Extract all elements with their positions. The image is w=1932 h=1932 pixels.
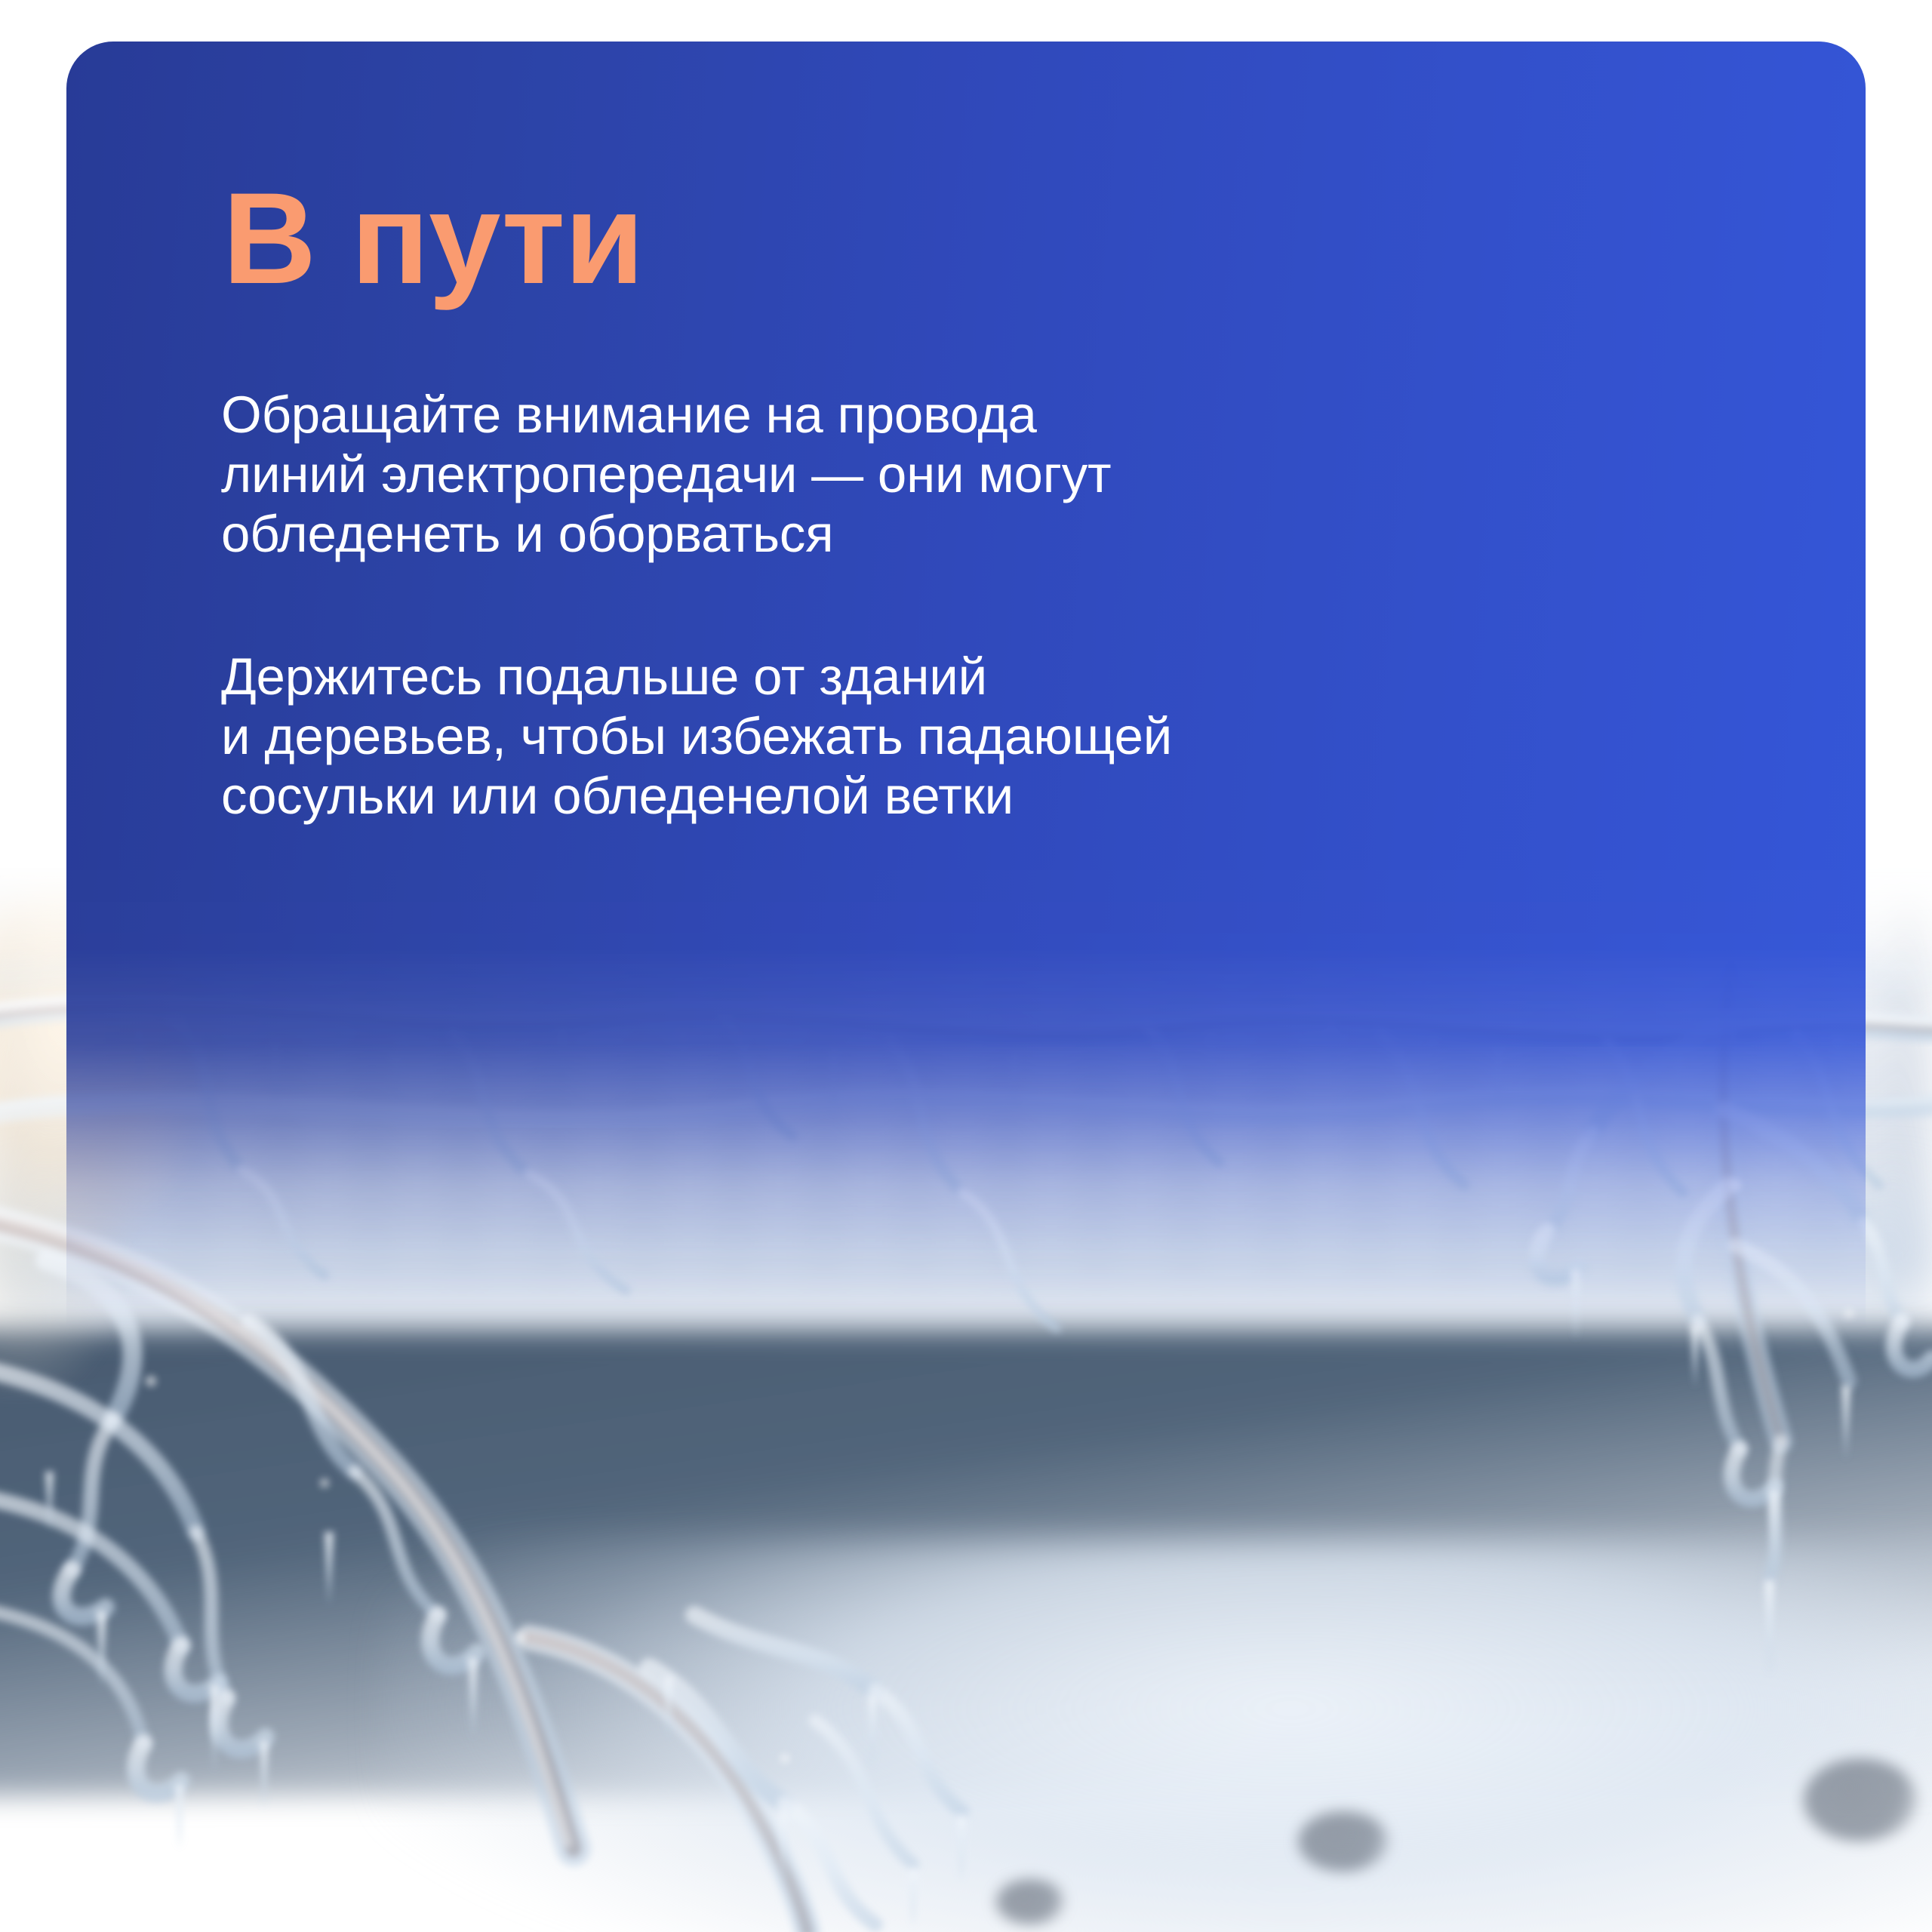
advice-line: Обращайте внимание на провода [221,385,1776,445]
card-gradient-overlay [66,42,1866,1932]
page-title: В пути [223,170,644,307]
advice-paragraph-keep-distance: Держитесь подальше от зданий и деревьев,… [221,647,1776,826]
poster-canvas: В пути Обращайте внимание на провода лин… [0,0,1932,1932]
advice-line: линий электропередачи — они могут [221,445,1776,504]
advice-line: сосульки или обледенелой ветки [221,766,1776,826]
advice-paragraph-power-lines: Обращайте внимание на провода линий элек… [221,385,1776,564]
advice-line: обледенеть и оборваться [221,504,1776,564]
blue-info-card [66,42,1866,1932]
advice-list: Обращайте внимание на провода линий элек… [221,385,1776,826]
advice-line: Держитесь подальше от зданий [221,647,1776,706]
advice-line: и деревьев, чтобы избежать падающей [221,706,1776,766]
